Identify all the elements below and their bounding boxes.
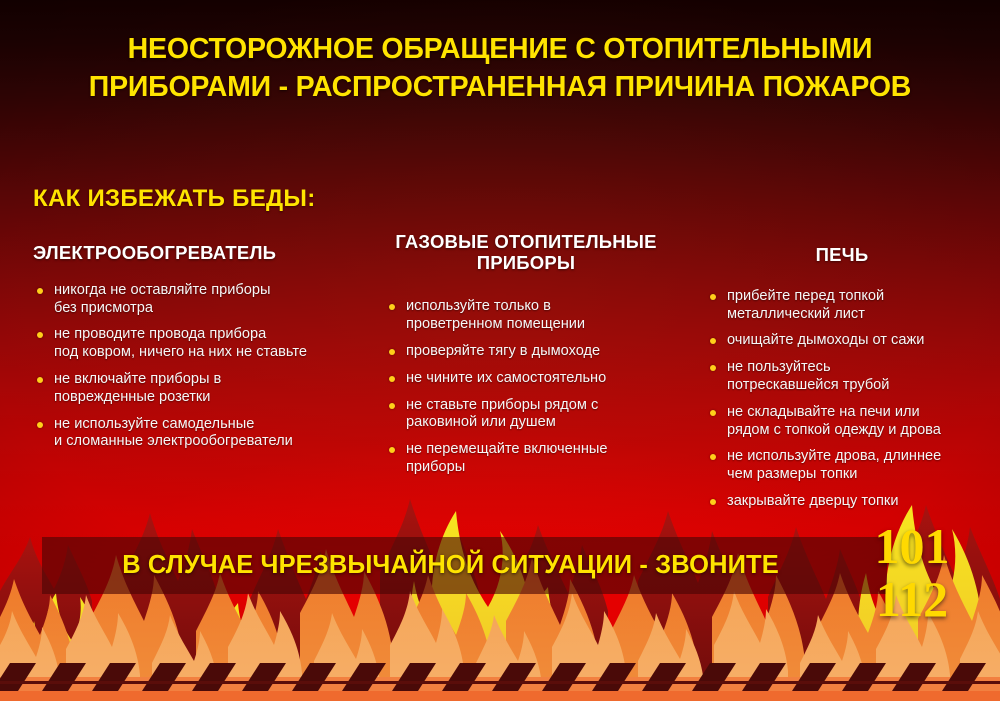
title-line-1: НЕОСТОРОЖНОЕ ОБРАЩЕНИЕ С ОТОПИТЕЛЬНЫМИ [22, 30, 978, 68]
bullet-icon [710, 365, 716, 371]
column-heading: ГАЗОВЫЕ ОТОПИТЕЛЬНЫЕ ПРИБОРЫ [385, 232, 667, 273]
bullet-icon [37, 377, 43, 383]
list-item: закрывайте дверцу топки [706, 493, 978, 511]
list-item-text: не ставьте приборы рядом с раковиной или… [406, 397, 598, 431]
column-heading: ПЕЧЬ [706, 245, 978, 266]
bullet-icon [389, 349, 395, 355]
bullet-icon [37, 422, 43, 428]
advice-column-gas-appliances: ГАЗОВЫЕ ОТОПИТЕЛЬНЫЕ ПРИБОРЫ используйте… [385, 232, 667, 486]
list-item: очищайте дымоходы от сажи [706, 332, 978, 350]
list-item-text: не используйте самодельные и сломанные э… [54, 416, 293, 450]
phone-number-secondary: 112 [852, 573, 972, 626]
bullet-icon [37, 288, 43, 294]
emergency-banner-text: В СЛУЧАЕ ЧРЕЗВЫЧАЙНОЙ СИТУАЦИИ - ЗВОНИТЕ [42, 537, 887, 594]
list-item: не ставьте приборы рядом с раковиной или… [385, 397, 667, 433]
list-item: не чините их самостоятельно [385, 370, 667, 388]
bullet-icon [389, 304, 395, 310]
list-item-text: очищайте дымоходы от сажи [727, 332, 924, 348]
bullet-icon [710, 499, 716, 505]
advice-list: никогда не оставляйте приборы без присмо… [33, 282, 368, 451]
list-item-text: не складывайте на печи или рядом с топко… [727, 404, 941, 438]
list-item: не складывайте на печи или рядом с топко… [706, 404, 978, 440]
advice-list: прибейте перед топкой металлический лист… [706, 288, 978, 511]
column-heading: ЭЛЕКТРООБОГРЕВАТЕЛЬ [33, 243, 368, 264]
list-item-text: никогда не оставляйте приборы без присмо… [54, 282, 270, 316]
section-heading: КАК ИЗБЕЖАТЬ БЕДЫ: [33, 185, 316, 213]
list-item-text: не проводите провода прибора под ковром,… [54, 326, 307, 360]
bullet-icon [710, 338, 716, 344]
list-item-text: не пользуйтесь потрескавшейся трубой [727, 359, 889, 393]
list-item-text: прибейте перед топкой металлический лист [727, 288, 884, 322]
list-item: не проводите провода прибора под ковром,… [33, 326, 368, 362]
list-item: никогда не оставляйте приборы без присмо… [33, 282, 368, 318]
list-item-text: используйте только в проветренном помеще… [406, 298, 585, 332]
bullet-icon [389, 376, 395, 382]
list-item: используйте только в проветренном помеще… [385, 298, 667, 334]
list-item-text: не используйте дрова, длиннее чем размер… [727, 448, 941, 482]
list-item-text: проверяйте тягу в дымоходе [406, 343, 600, 359]
list-item: не используйте дрова, длиннее чем размер… [706, 448, 978, 484]
list-item-text: не чините их самостоятельно [406, 370, 606, 386]
phone-number-primary: 101 [852, 520, 972, 573]
bullet-icon [389, 403, 395, 409]
emergency-phone-numbers: 101 112 [852, 520, 972, 625]
advice-column-electric-heater: ЭЛЕКТРООБОГРЕВАТЕЛЬ никогда не оставляйт… [33, 243, 368, 460]
list-item-text: закрывайте дверцу топки [727, 493, 898, 509]
bullet-icon [710, 454, 716, 460]
list-item: проверяйте тягу в дымоходе [385, 343, 667, 361]
list-item: не включайте приборы в поврежденные розе… [33, 371, 368, 407]
list-item: не пользуйтесь потрескавшейся трубой [706, 359, 978, 395]
bullet-icon [710, 294, 716, 300]
bullet-icon [37, 332, 43, 338]
list-item: не используйте самодельные и сломанные э… [33, 416, 368, 452]
advice-column-stove: ПЕЧЬ прибейте перед топкой металлический… [706, 245, 978, 520]
list-item: не перемещайте включенные приборы [385, 441, 667, 477]
bullet-icon [710, 410, 716, 416]
fire-safety-poster: НЕОСТОРОЖНОЕ ОБРАЩЕНИЕ С ОТОПИТЕЛЬНЫМИ П… [0, 0, 1000, 701]
advice-list: используйте только в проветренном помеще… [385, 298, 667, 476]
list-item: прибейте перед топкой металлический лист [706, 288, 978, 324]
page-title: НЕОСТОРОЖНОЕ ОБРАЩЕНИЕ С ОТОПИТЕЛЬНЫМИ П… [0, 30, 1000, 106]
title-line-2: ПРИБОРАМИ - РАСПРОСТРАНЕННАЯ ПРИЧИНА ПОЖ… [22, 68, 978, 106]
list-item-text: не перемещайте включенные приборы [406, 441, 607, 475]
bullet-icon [389, 447, 395, 453]
list-item-text: не включайте приборы в поврежденные розе… [54, 371, 221, 405]
